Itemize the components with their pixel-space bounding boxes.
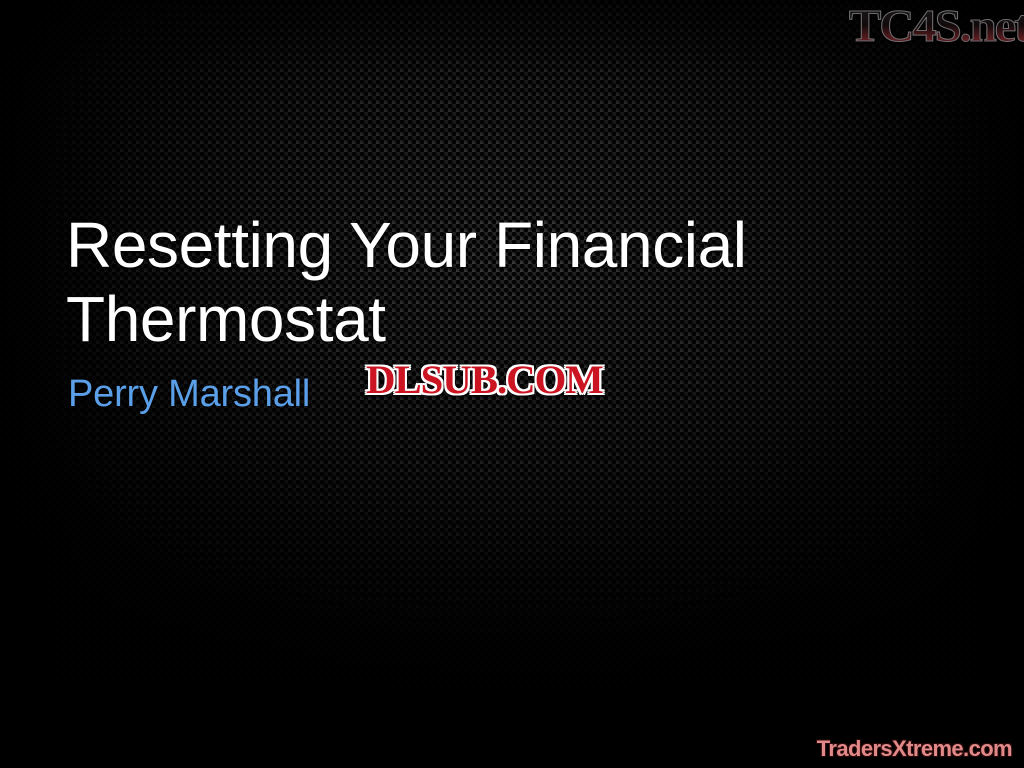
presentation-slide: Resetting Your Financial Thermostat Perr… <box>0 0 1024 768</box>
watermark-dlsub: DLSUB.COM <box>366 360 603 400</box>
slide-title-line-1: Resetting Your Financial <box>66 209 747 281</box>
slide-title-line-2: Thermostat <box>66 283 386 355</box>
watermark-tc4s: TC4S.net <box>849 2 1024 50</box>
watermark-tradersxtreme: TradersXtreme.com <box>817 736 1012 762</box>
slide-title: Resetting Your Financial Thermostat <box>66 208 826 356</box>
